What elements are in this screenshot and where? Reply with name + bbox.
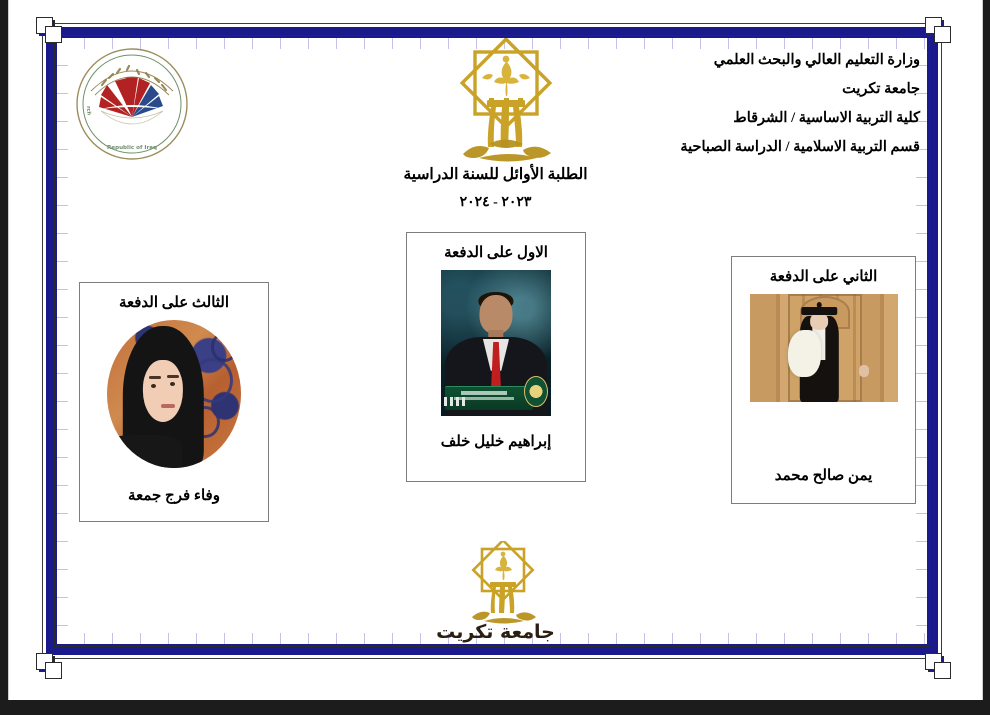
ministry-of-higher-education-seal-icon: Republic of Iraq Ministry of Higher Educ…: [71, 45, 193, 163]
student-card-third[interactable]: الثالث على الدفعة وفاء فرج جمعة: [79, 282, 269, 522]
tikrit-university-emblem-icon: [449, 38, 569, 170]
corner-knot-top-left-icon: [34, 15, 68, 49]
rank-label-second: الثاني على الدفعة: [732, 267, 915, 286]
rank-label-first: الاول على الدفعة: [407, 243, 585, 262]
corner-knot-bottom-left-icon: [34, 651, 68, 685]
header-line-college: كلية التربية الاساسية / الشرقاط: [590, 104, 920, 133]
document-page: Republic of Iraq Ministry of Higher Educ…: [8, 0, 983, 700]
footer-university-name: جامعة تكريت: [9, 621, 982, 643]
header-line-department: قسم التربية الاسلامية / الدراسة الصباحية: [590, 133, 920, 162]
institution-header: وزارة التعليم العالي والبحث العلمي جامعة…: [590, 46, 920, 162]
corner-knot-top-right-icon: [923, 15, 957, 49]
corner-knot-bottom-right-icon: [923, 651, 957, 685]
student-photo-second: [750, 294, 898, 402]
student-card-second[interactable]: الثاني على الدفعة يمن صالح محمد: [731, 256, 916, 504]
page-title: الطلبة الأوائل للسنة الدراسية: [9, 165, 982, 184]
document-viewer[interactable]: Republic of Iraq Ministry of Higher Educ…: [0, 0, 990, 715]
header-line-ministry: وزارة التعليم العالي والبحث العلمي: [590, 46, 920, 75]
student-photo-third: [107, 320, 241, 468]
rank-label-third: الثالث على الدفعة: [80, 293, 268, 312]
student-card-first[interactable]: الاول على الدفعة إبراهيم خليل خلف: [406, 232, 586, 482]
svg-text:Republic of Iraq: Republic of Iraq: [107, 145, 157, 151]
student-name-third: وفاء فرج جمعة: [80, 486, 268, 505]
student-name-second: يمن صالح محمد: [732, 466, 915, 485]
academic-year: ٢٠٢٣ - ٢٠٢٤: [9, 194, 982, 211]
student-name-first: إبراهيم خليل خلف: [407, 432, 585, 451]
header-line-university: جامعة تكريت: [590, 75, 920, 104]
tikrit-university-footer-emblem-icon: [464, 541, 544, 629]
student-photo-first: [441, 270, 551, 416]
border-tick-left: [57, 38, 68, 644]
